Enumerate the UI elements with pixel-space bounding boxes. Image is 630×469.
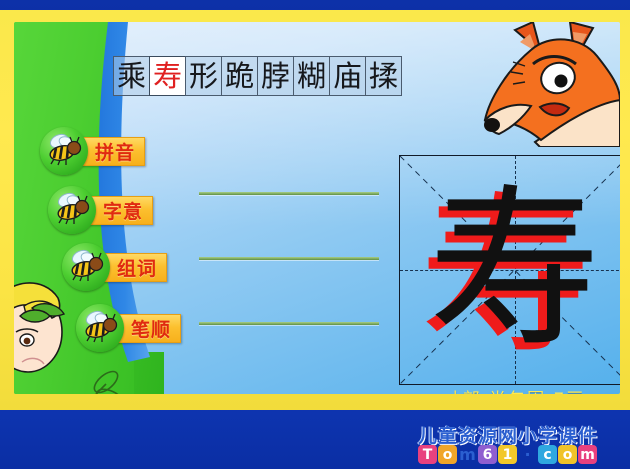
menu-item-label: 笔顺 <box>118 314 181 343</box>
logo-tile-0: T <box>418 445 437 464</box>
slide-stage: 乘 寿 形 跪 脖 糊 庙 揉 <box>0 0 630 469</box>
menu-item-pinyin[interactable]: 拼音 <box>40 128 145 174</box>
watermark: 儿童资源网小学课件 T o m 6 1 · c o m <box>418 421 626 467</box>
logo-tile-3: 6 <box>478 445 497 464</box>
watermark-text: 儿童资源网小学课件 <box>418 421 626 445</box>
content-panel: 乘 寿 形 跪 脖 糊 庙 揉 <box>14 22 620 394</box>
logo-tile-2: m <box>458 445 477 464</box>
menu-item-bishun[interactable]: 笔顺 <box>76 305 181 351</box>
logo-tile-5: · <box>518 445 537 464</box>
menu-item-label: 拼音 <box>82 137 145 166</box>
menu-list: 拼音 字意 <box>14 22 244 394</box>
logo-tile-4: 1 <box>498 445 517 464</box>
answer-line-2 <box>199 257 379 260</box>
menu-item-label: 字意 <box>90 196 153 225</box>
fox-head-icon <box>445 22 620 147</box>
answer-line-1 <box>199 192 379 195</box>
menu-item-label: 组词 <box>104 253 167 282</box>
bee-icon <box>40 127 88 175</box>
menu-item-zuci[interactable]: 组词 <box>62 244 167 290</box>
logo-tile-7: o <box>558 445 577 464</box>
character-info: 寸部 半包围 7画 <box>399 385 620 394</box>
logo-tile-8: m <box>578 445 597 464</box>
bee-icon <box>48 186 96 234</box>
big-character: 寿 <box>400 156 620 384</box>
bee-icon <box>76 304 124 352</box>
bee-icon <box>62 243 110 291</box>
char-cell-7[interactable]: 揉 <box>365 56 402 96</box>
answer-line-3 <box>199 322 379 325</box>
menu-item-ziyi[interactable]: 字意 <box>48 187 153 233</box>
char-cell-4[interactable]: 脖 <box>257 56 294 96</box>
character-grid-box: 寿 <box>399 155 620 385</box>
char-cell-6[interactable]: 庙 <box>329 56 366 96</box>
watermark-logo: T o m 6 1 · c o m <box>418 445 597 464</box>
char-cell-5[interactable]: 糊 <box>293 56 330 96</box>
logo-tile-6: c <box>538 445 557 464</box>
logo-tile-1: o <box>438 445 457 464</box>
